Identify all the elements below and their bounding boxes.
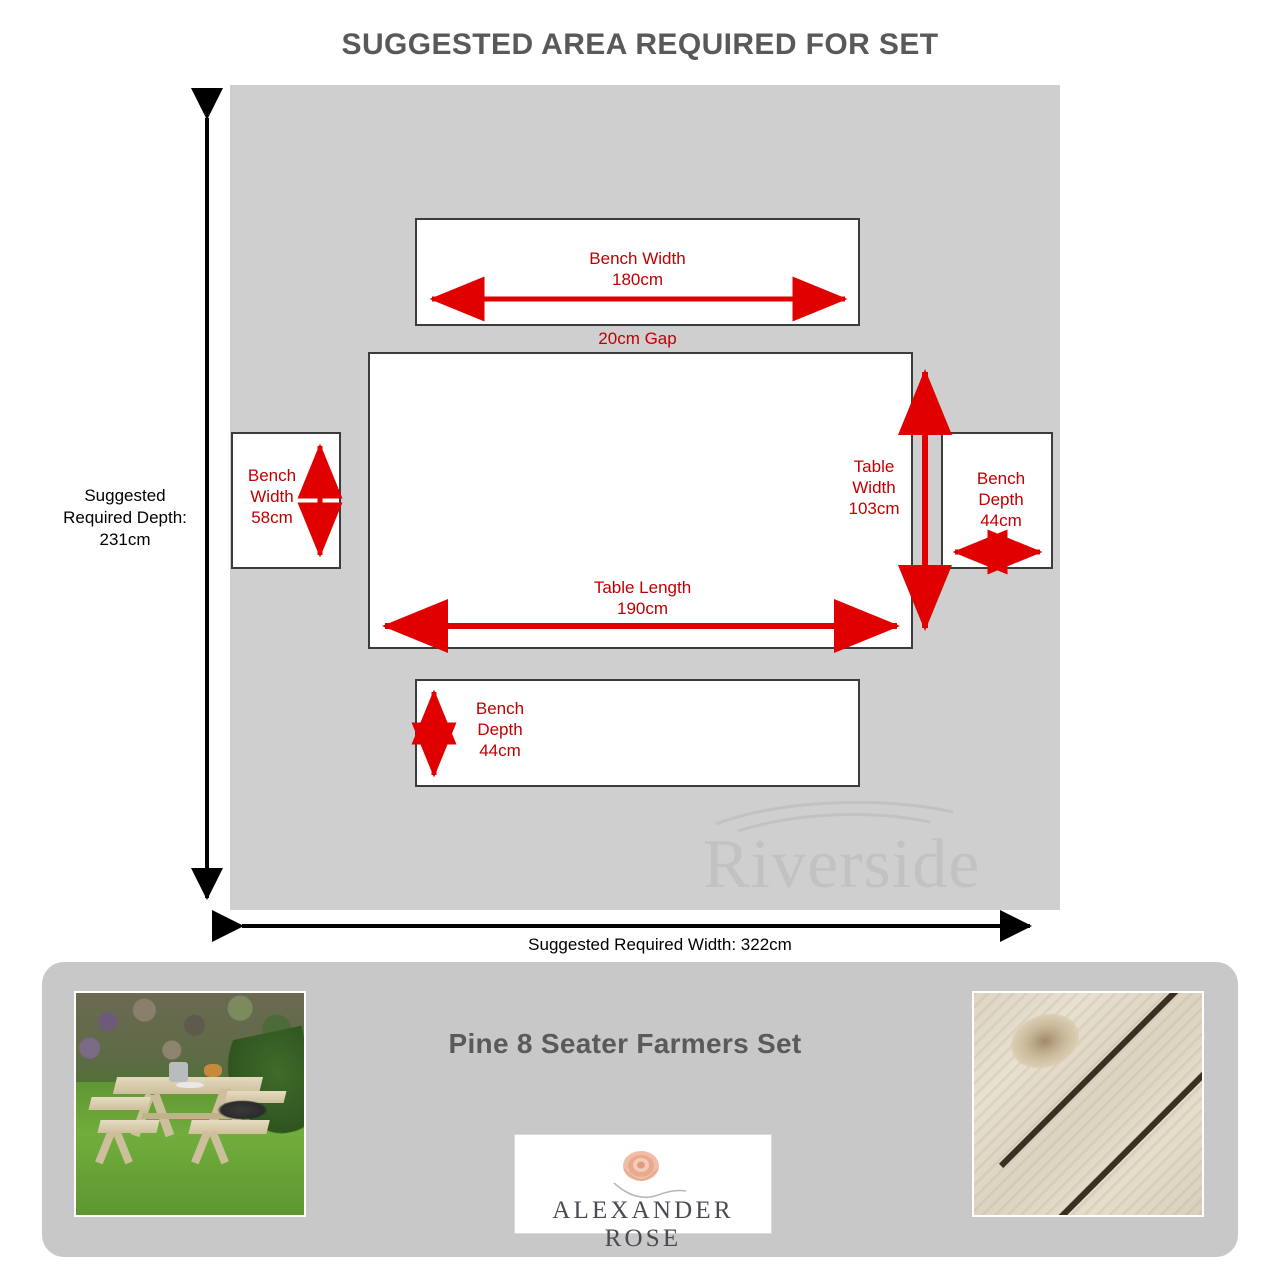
photo-dog xyxy=(217,1100,267,1120)
diagram-page: SUGGESTED AREA REQUIRED FOR SET Riversid… xyxy=(0,0,1280,1280)
photo-bench xyxy=(188,1120,269,1134)
label-bench-right-depth: Bench Depth 44cm xyxy=(958,468,1044,531)
label-required-depth: Suggested Required Depth: 231cm xyxy=(40,485,210,551)
label-bench-left-width: Bench Width 58cm xyxy=(236,465,308,528)
label-gap: 20cm Gap xyxy=(415,328,860,349)
label-required-width: Suggested Required Width: 322cm xyxy=(380,934,940,956)
material-photo xyxy=(972,991,1204,1217)
label-table-width: Table Width 103cm xyxy=(832,456,916,519)
label-bench-top-width: Bench Width 180cm xyxy=(415,248,860,290)
label-table-length: Table Length 190cm xyxy=(500,577,785,619)
product-photo xyxy=(74,991,306,1217)
photo-bench xyxy=(88,1097,151,1110)
photo-tableware xyxy=(204,1064,222,1077)
product-title: Pine 8 Seater Farmers Set xyxy=(320,1028,930,1060)
brand-name: ALEXANDER ROSE xyxy=(515,1197,771,1253)
label-bench-bottom-depth: Bench Depth 44cm xyxy=(452,698,548,761)
brand-logo: ALEXANDER ROSE xyxy=(514,1134,772,1234)
photo-tableware xyxy=(169,1062,187,1082)
